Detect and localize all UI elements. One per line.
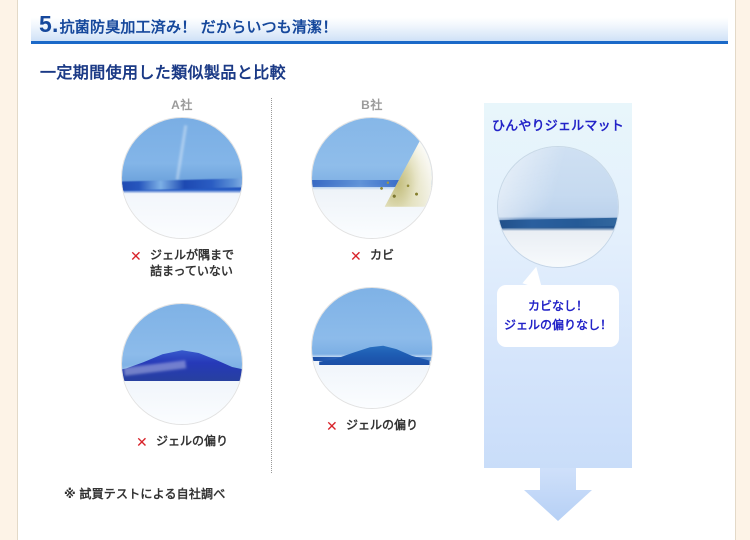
comparison-area: A社 ✕ ジェルが隅まで 詰まっていない [18,95,735,535]
photo-sheen [498,147,590,224]
content-sheet: 5.抗菌防臭加工済み！ だからいつも清潔！ 一定期間使用した類似製品と比較 A社… [18,0,735,540]
caption-b-1: ✕ カビ [276,247,468,263]
photo-diagonal-line [312,118,330,238]
section-number: 5. [39,11,60,37]
photo-slot-a-1 [86,115,278,241]
footnote: ※ 試買テストによる自社調べ [64,485,225,502]
gel-lump [319,341,429,365]
photo-company-a-gel-bias [122,304,242,424]
mold-speckles [372,178,425,204]
product-highlight-panel: ひんやりジェルマット カビなし！ ジェルの偏りなし！ [484,103,632,468]
page-subtitle: 一定期間使用した類似製品と比較 [40,59,286,83]
cross-mark-icon: ✕ [350,247,362,265]
section-header: 5.抗菌防臭加工済み！ だからいつも清潔！ [31,8,728,44]
page-root: 5.抗菌防臭加工済み！ だからいつも清潔！ 一定期間使用した類似製品と比較 A社… [0,0,750,540]
comparison-column-company-b: B社 ✕ カビ [276,95,468,433]
cross-mark-icon: ✕ [130,247,142,265]
caption-line-2: 詰まっていない [150,264,233,278]
caption-a-1: ✕ ジェルが隅まで 詰まっていない [86,247,278,279]
column-title-company-b: B社 [276,95,468,115]
comparison-column-company-a: A社 ✕ ジェルが隅まで 詰まっていない [86,95,278,450]
photo-slot-a-2 [86,301,278,427]
callout-tail [522,264,548,290]
caption-line-1: ジェルの偏り [346,418,418,432]
photo-cooling-gel-mat [498,147,618,267]
callout-line-2: ジェルの偏りなし！ [504,318,612,332]
photo-edge-band [498,218,618,229]
cross-mark-icon: ✕ [136,433,148,451]
product-callout: カビなし！ ジェルの偏りなし！ [497,285,619,347]
caption-line-1: カビ [370,248,394,262]
product-title: ひんやりジェルマット [484,115,632,134]
column-title-company-a: A社 [86,95,278,115]
section-header-text: 5.抗菌防臭加工済み！ だからいつも清潔！ [39,13,338,37]
right-margin-rule [735,0,736,540]
photo-slot-b-1 [276,115,468,241]
caption-b-2: ✕ ジェルの偏り [276,417,468,433]
photo-slot-b-2 [276,285,468,411]
caption-line-1: ジェルが隅まで [150,248,234,262]
photo-company-b-gel-bias [312,288,432,408]
down-arrow-icon [522,468,594,523]
caption-line-1: ジェルの偏り [156,434,228,448]
photo-streak [175,125,187,180]
photo-company-a-gel-gap [122,118,242,238]
cross-mark-icon: ✕ [326,417,338,435]
caption-a-2: ✕ ジェルの偏り [86,433,278,449]
callout-line-1: カビなし！ [528,299,588,313]
section-title: 抗菌防臭加工済み！ だからいつも清潔！ [60,19,338,36]
photo-company-b-mold [312,118,432,238]
